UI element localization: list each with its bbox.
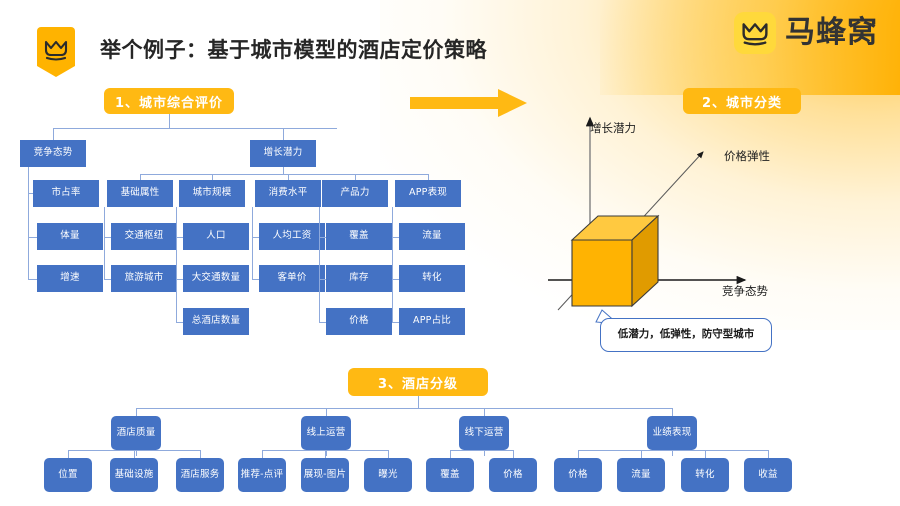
hotel-root-branch-1 (326, 408, 327, 416)
leaf-spine-3 (252, 207, 253, 279)
brand-name: 马蜂窝 (785, 18, 878, 48)
node-inventory[interactable]: 库存 (326, 265, 392, 292)
leaf-elbow-5-0 (392, 237, 399, 238)
leaf-elbow-0-1 (28, 279, 37, 280)
node-city-scale[interactable]: 城市规模 (179, 180, 245, 207)
chip1-stem (169, 114, 170, 128)
node-traffic[interactable]: 流量 (399, 223, 465, 250)
hotel-leaf-branch-3-2 (705, 450, 706, 458)
node-performance[interactable]: 业绩表现 (647, 416, 697, 450)
node-traffic-perf[interactable]: 流量 (617, 458, 665, 492)
hotel-leaf-branch-3-0 (578, 450, 579, 458)
node-online-ops[interactable]: 线上运营 (301, 416, 351, 450)
leaf-elbow-2-0 (176, 237, 183, 238)
node-price[interactable]: 价格 (326, 308, 392, 335)
node-display-image[interactable]: 展现-图片 (301, 458, 349, 492)
leaf-spine-4 (319, 207, 320, 322)
slide-canvas: 举个例子：基于城市模型的酒店定价策略 马蜂窝 1、城市综合评价 2、城市分类 3… (0, 0, 900, 506)
mafengwo-crown-icon (734, 12, 776, 54)
leaf-elbow-4-2 (319, 322, 326, 323)
node-transport-count[interactable]: 大交通数量 (183, 265, 249, 292)
node-hotel-service[interactable]: 酒店服务 (176, 458, 224, 492)
gz-branch-2 (288, 174, 289, 180)
leaf-elbow-2-1 (176, 279, 183, 280)
node-market-share[interactable]: 市占率 (33, 180, 99, 207)
leaf-elbow-3-1 (252, 279, 259, 280)
leaf-elbow-1-0 (104, 237, 111, 238)
leaf-elbow-4-0 (319, 237, 326, 238)
node-revenue[interactable]: 收益 (744, 458, 792, 492)
page-title: 举个例子：基于城市模型的酒店定价策略 (100, 34, 487, 64)
leaf-spine-1 (104, 207, 105, 279)
node-hotel-quality[interactable]: 酒店质量 (111, 416, 161, 450)
mafengwo-badge-icon (37, 27, 75, 77)
node-volume[interactable]: 体量 (37, 223, 103, 250)
node-average-wage[interactable]: 人均工资 (259, 223, 325, 250)
leaf-elbow-3-0 (252, 237, 259, 238)
hotel-leaf-branch-1-1 (325, 450, 326, 458)
node-avg-order-value[interactable]: 客单价 (259, 265, 325, 292)
node-conversion-perf[interactable]: 转化 (681, 458, 729, 492)
jz-stem (28, 167, 29, 194)
node-competition-status[interactable]: 竞争态势 (20, 140, 86, 167)
node-app-share[interactable]: APP占比 (399, 308, 465, 335)
gz-branch-3 (355, 174, 356, 180)
hotel-leaf-branch-0-1 (134, 450, 135, 458)
hotel-leaf-branch-0-2 (200, 450, 201, 458)
city-classification-cube (540, 110, 840, 350)
hotel-leaf-branch-1-0 (262, 450, 263, 458)
node-tourist-city[interactable]: 旅游城市 (111, 265, 177, 292)
leaf-elbow-1-1 (104, 279, 111, 280)
node-price-perf[interactable]: 价格 (554, 458, 602, 492)
node-product-power[interactable]: 产品力 (322, 180, 388, 207)
hotel-leaf-branch-3-1 (641, 450, 642, 458)
node-growth-potential[interactable]: 增长潜力 (250, 140, 316, 167)
hotel-leaf-branch-2-0 (450, 450, 451, 458)
leaf-elbow-0-0 (28, 237, 37, 238)
node-app-performance[interactable]: APP表现 (395, 180, 461, 207)
node-basic-attributes[interactable]: 基础属性 (107, 180, 173, 207)
node-offline-ops[interactable]: 线下运营 (459, 416, 509, 450)
leaf-elbow-5-2 (392, 322, 399, 323)
node-location[interactable]: 位置 (44, 458, 92, 492)
hotel-leaf-bus-2 (450, 450, 513, 451)
axis-label-z: 价格弹性 (724, 148, 770, 164)
node-population[interactable]: 人口 (183, 223, 249, 250)
chip3-stem (418, 396, 419, 408)
gz-branch-4 (428, 174, 429, 180)
brand-lockup: 马蜂窝 (734, 12, 878, 54)
hotel-root-bus (136, 408, 672, 409)
root-branch-right (283, 128, 284, 140)
axis-label-x: 竞争态势 (722, 283, 768, 299)
gz-branch-0 (140, 174, 141, 180)
hotel-leaf-branch-0-0 (68, 450, 69, 458)
leaf-elbow-2-2 (176, 322, 183, 323)
hotel-root-branch-0 (136, 408, 137, 416)
hotel-leaf-branch-1-2 (388, 450, 389, 458)
node-exposure[interactable]: 曝光 (364, 458, 412, 492)
node-recommend-review[interactable]: 推荐-点评 (238, 458, 286, 492)
hotel-leaf-branch-3-3 (768, 450, 769, 458)
hotel-root-branch-2 (484, 408, 485, 416)
node-coverage-offline[interactable]: 覆盖 (426, 458, 474, 492)
leaf-spine-0 (28, 193, 29, 279)
cube-callout: 低潜力，低弹性，防守型城市 (600, 318, 772, 352)
node-facilities[interactable]: 基础设施 (110, 458, 158, 492)
gz-branch-1 (212, 174, 213, 180)
leaf-elbow-4-1 (319, 279, 326, 280)
hotel-leaf-branch-2-1 (513, 450, 514, 458)
node-consumption-level[interactable]: 消费水平 (255, 180, 321, 207)
hotel-leaf-bus-3 (578, 450, 768, 451)
gz-bus (140, 174, 428, 175)
section-chip-city-evaluation[interactable]: 1、城市综合评价 (104, 88, 234, 114)
node-transport-hub[interactable]: 交通枢纽 (111, 223, 177, 250)
hotel-root-branch-3 (672, 408, 673, 416)
right-arrow-icon (410, 88, 528, 122)
leaf-spine-5 (392, 207, 393, 322)
node-total-hotels[interactable]: 总酒店数量 (183, 308, 249, 335)
node-growth-rate[interactable]: 增速 (37, 265, 103, 292)
axis-label-y: 增长潜力 (590, 120, 636, 136)
node-coverage[interactable]: 覆盖 (326, 223, 392, 250)
node-conversion[interactable]: 转化 (399, 265, 465, 292)
root-branch-left (53, 128, 54, 140)
section-chip-hotel-grading[interactable]: 3、酒店分级 (348, 368, 488, 396)
root-bus (53, 128, 337, 129)
node-price-offline[interactable]: 价格 (489, 458, 537, 492)
leaf-elbow-5-1 (392, 279, 399, 280)
leaf-spine-2 (176, 207, 177, 322)
